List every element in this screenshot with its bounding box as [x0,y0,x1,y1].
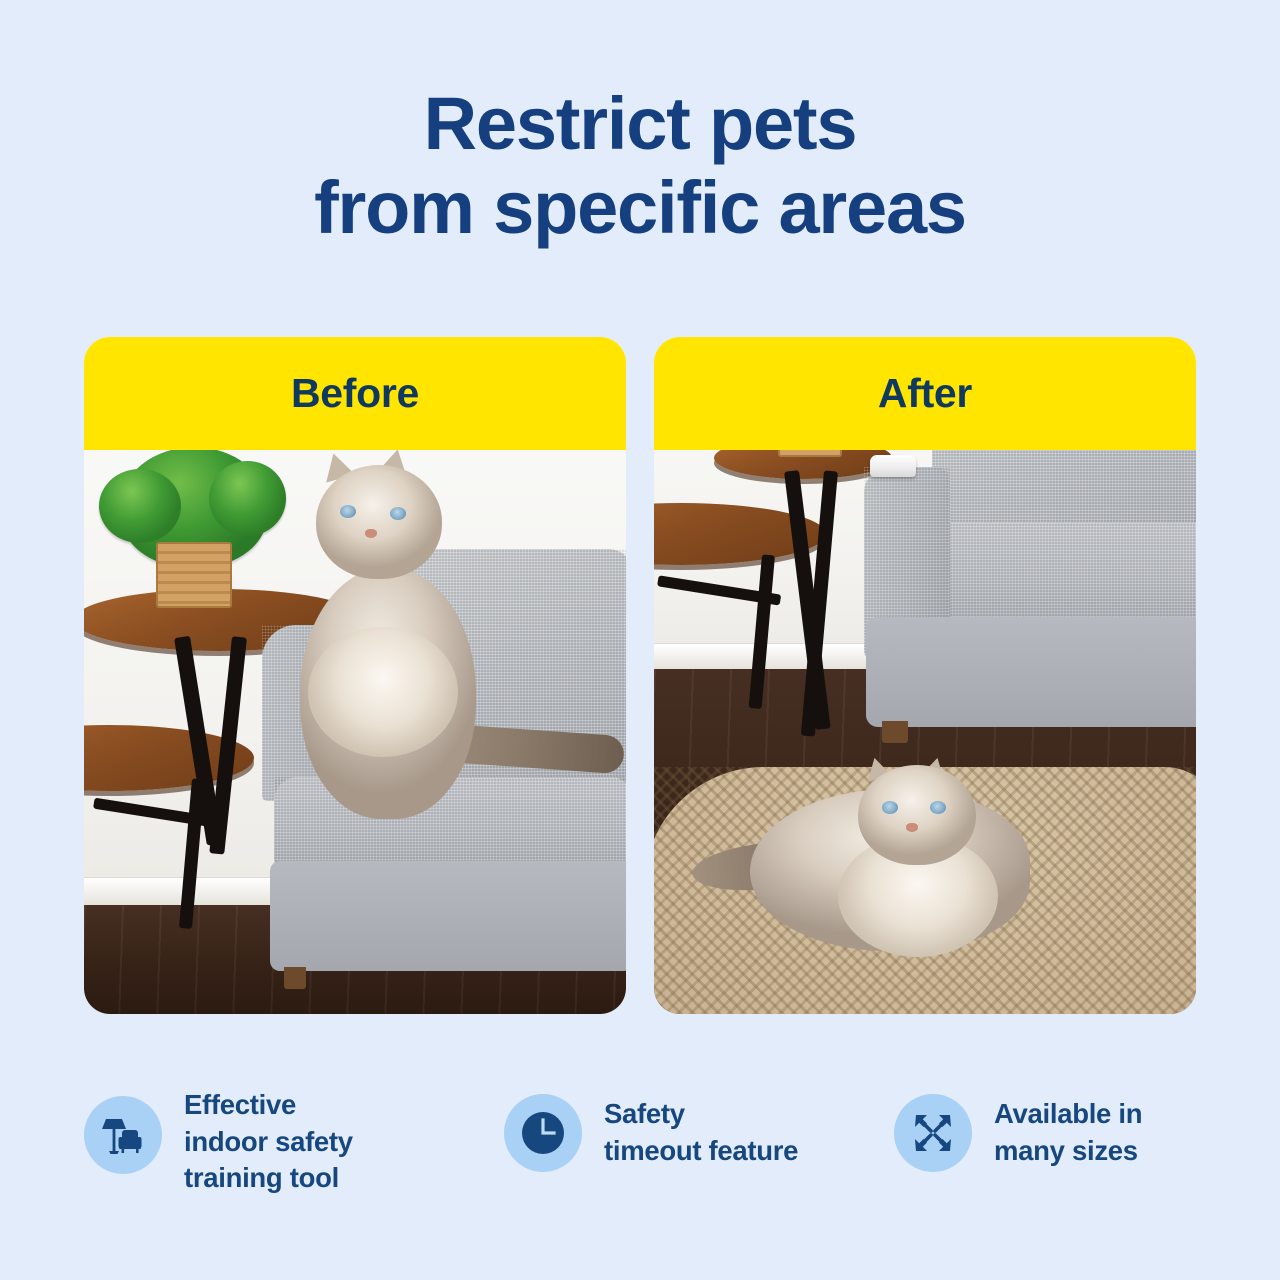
lamp-armchair-icon [84,1096,162,1174]
page-title-line-1: Restrict pets [0,82,1280,166]
feature-label-indoor-safety: Effective indoor safety training tool [184,1085,353,1197]
feature-item-safety-timeout: Safety timeout feature [504,1085,894,1172]
pet-deterrent-device [870,455,916,477]
page-title-line-2: from specific areas [0,166,1280,250]
before-after-comparison: Before [84,337,1196,1014]
clock-icon [504,1094,582,1172]
after-header: After [654,337,1196,450]
before-panel: Before [84,337,626,1014]
feature-label-many-sizes: Available in many sizes [994,1094,1142,1169]
feature-label-safety-timeout: Safety timeout feature [604,1094,798,1169]
after-label: After [878,370,972,417]
feature-item-many-sizes: Available in many sizes [894,1085,1196,1172]
feature-item-indoor-safety: Effective indoor safety training tool [84,1085,504,1197]
feature-list: Effective indoor safety training tool Sa… [84,1085,1196,1197]
before-header: Before [84,337,626,450]
page-title: Restrict pets from specific areas [0,82,1280,251]
before-label: Before [291,370,419,417]
after-panel: After [654,337,1196,1014]
expand-arrows-icon [894,1094,972,1172]
